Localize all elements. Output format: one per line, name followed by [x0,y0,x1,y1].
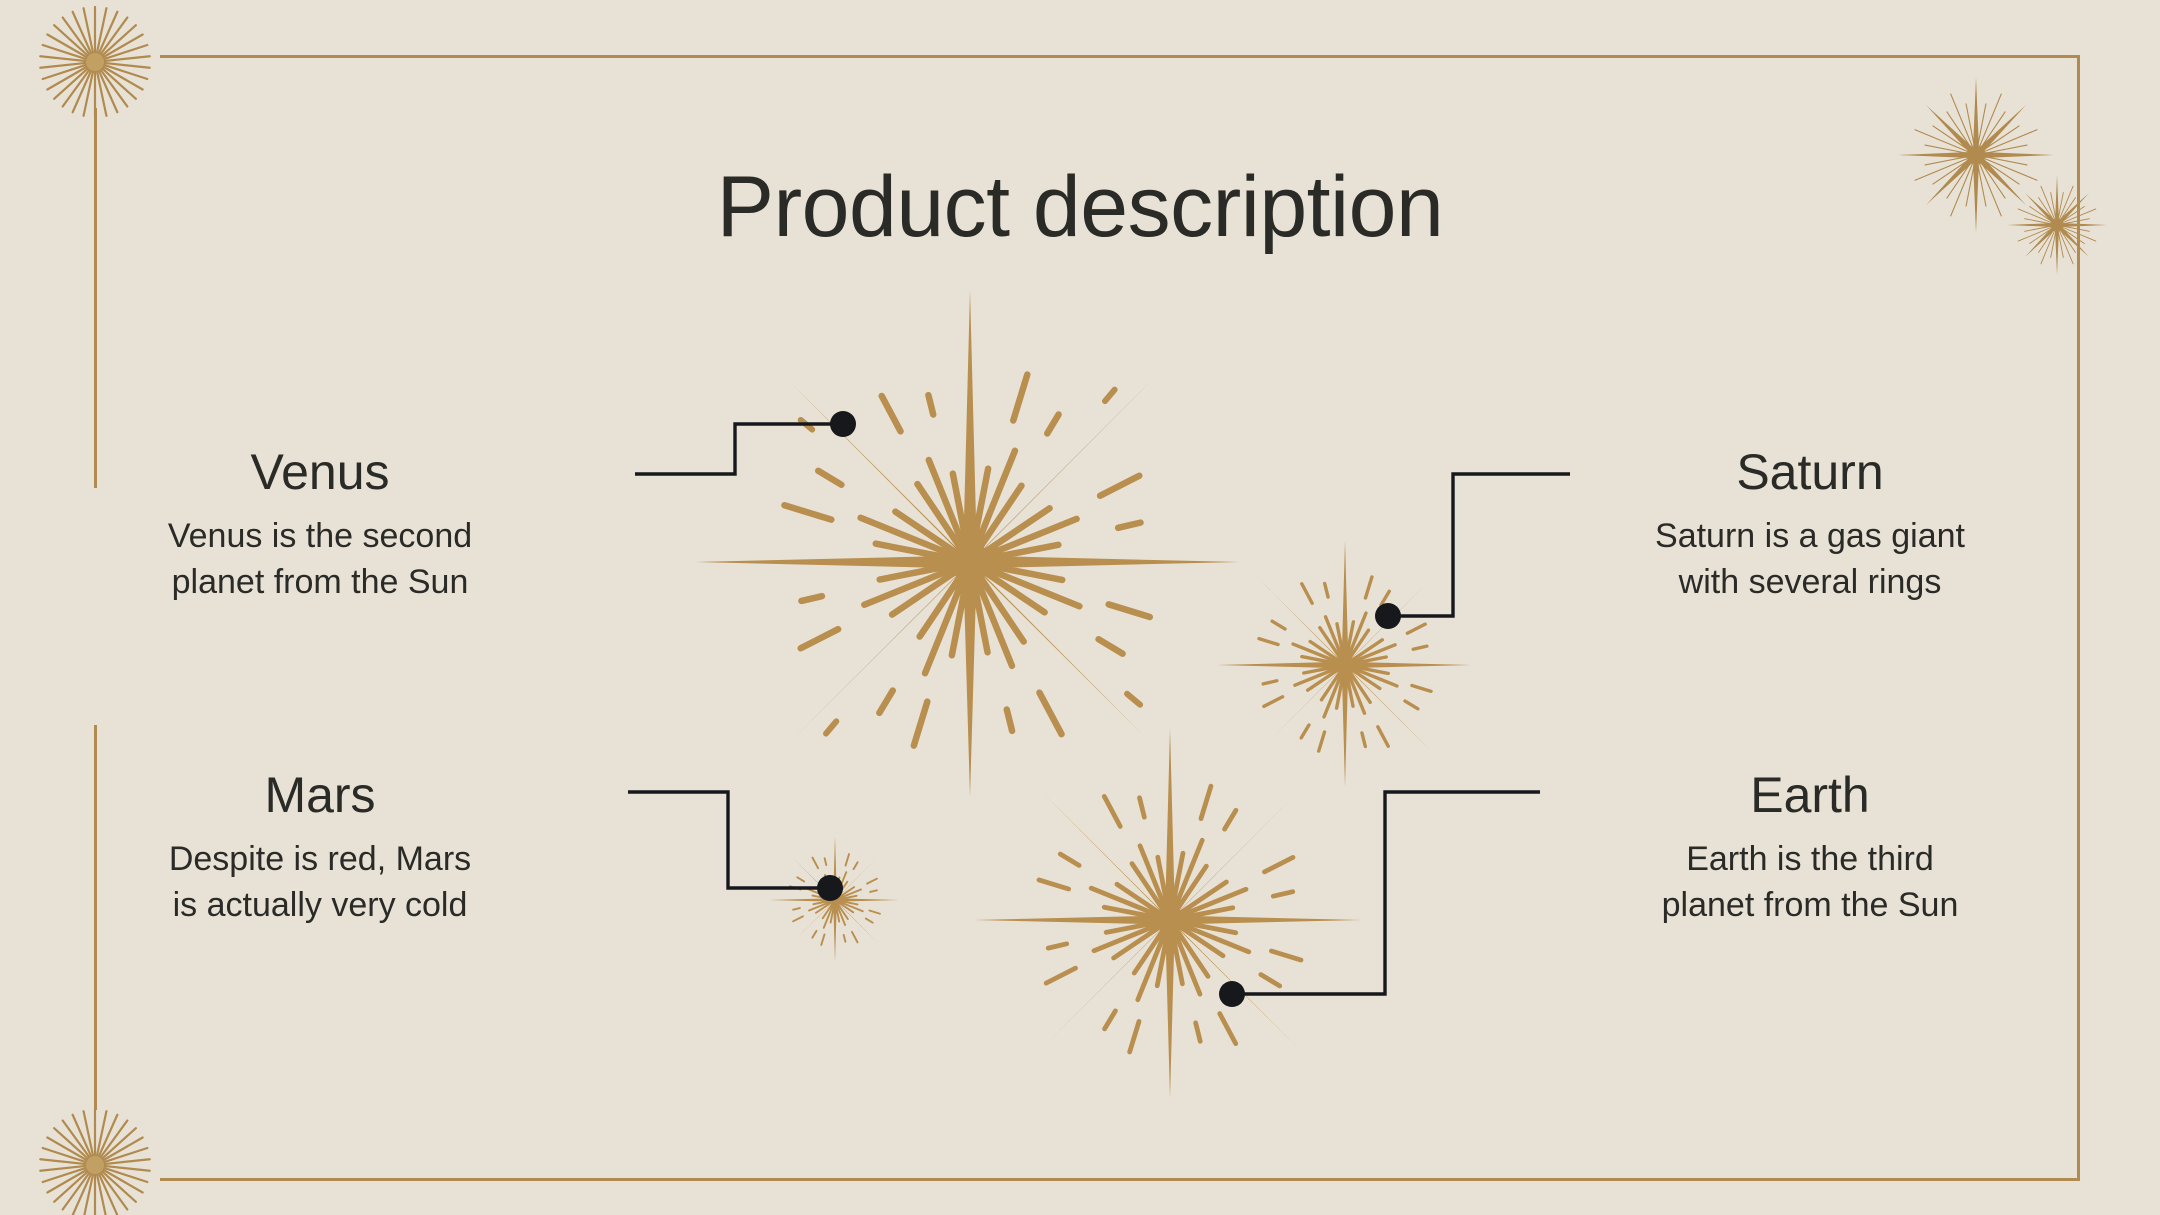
connector-dot-mars [817,875,843,901]
fact-title-saturn: Saturn [1600,445,2020,500]
connector-saturn [1388,474,1570,616]
fact-body-saturn-line2: with several rings [1679,563,1942,601]
fact-title-venus: Venus [110,445,530,500]
fact-body-saturn: Saturn is a gas giant with several rings [1600,514,2020,606]
connector-dot-earth [1219,981,1245,1007]
connector-dot-venus [830,411,856,437]
fact-body-venus-line1: Venus is the second [168,517,472,555]
fact-body-venus-line2: planet from the Sun [172,563,469,601]
connector-earth [1232,792,1540,994]
slide-canvas: Product description Venus Venus is the s… [0,0,2160,1215]
fact-block-saturn: Saturn Saturn is a gas giant with severa… [1600,445,2020,606]
fact-title-earth: Earth [1600,768,2020,823]
fact-body-mars-line2: is actually very cold [173,886,468,924]
fact-block-venus: Venus Venus is the second planet from th… [110,445,530,606]
page-title: Product description [0,162,2160,252]
connector-mars [628,792,830,888]
fact-body-earth-line2: planet from the Sun [1662,886,1959,924]
fact-body-venus: Venus is the second planet from the Sun [110,514,530,606]
fact-body-saturn-line1: Saturn is a gas giant [1655,517,1965,555]
fact-body-mars-line1: Despite is red, Mars [169,840,471,878]
fact-body-earth: Earth is the third planet from the Sun [1600,837,2020,929]
fact-block-earth: Earth Earth is the third planet from the… [1600,768,2020,929]
fact-block-mars: Mars Despite is red, Mars is actually ve… [110,768,530,929]
fact-body-mars: Despite is red, Mars is actually very co… [110,837,530,929]
connector-venus [635,424,843,474]
connector-dot-saturn [1375,603,1401,629]
fact-title-mars: Mars [110,768,530,823]
fact-body-earth-line1: Earth is the third [1686,840,1934,878]
